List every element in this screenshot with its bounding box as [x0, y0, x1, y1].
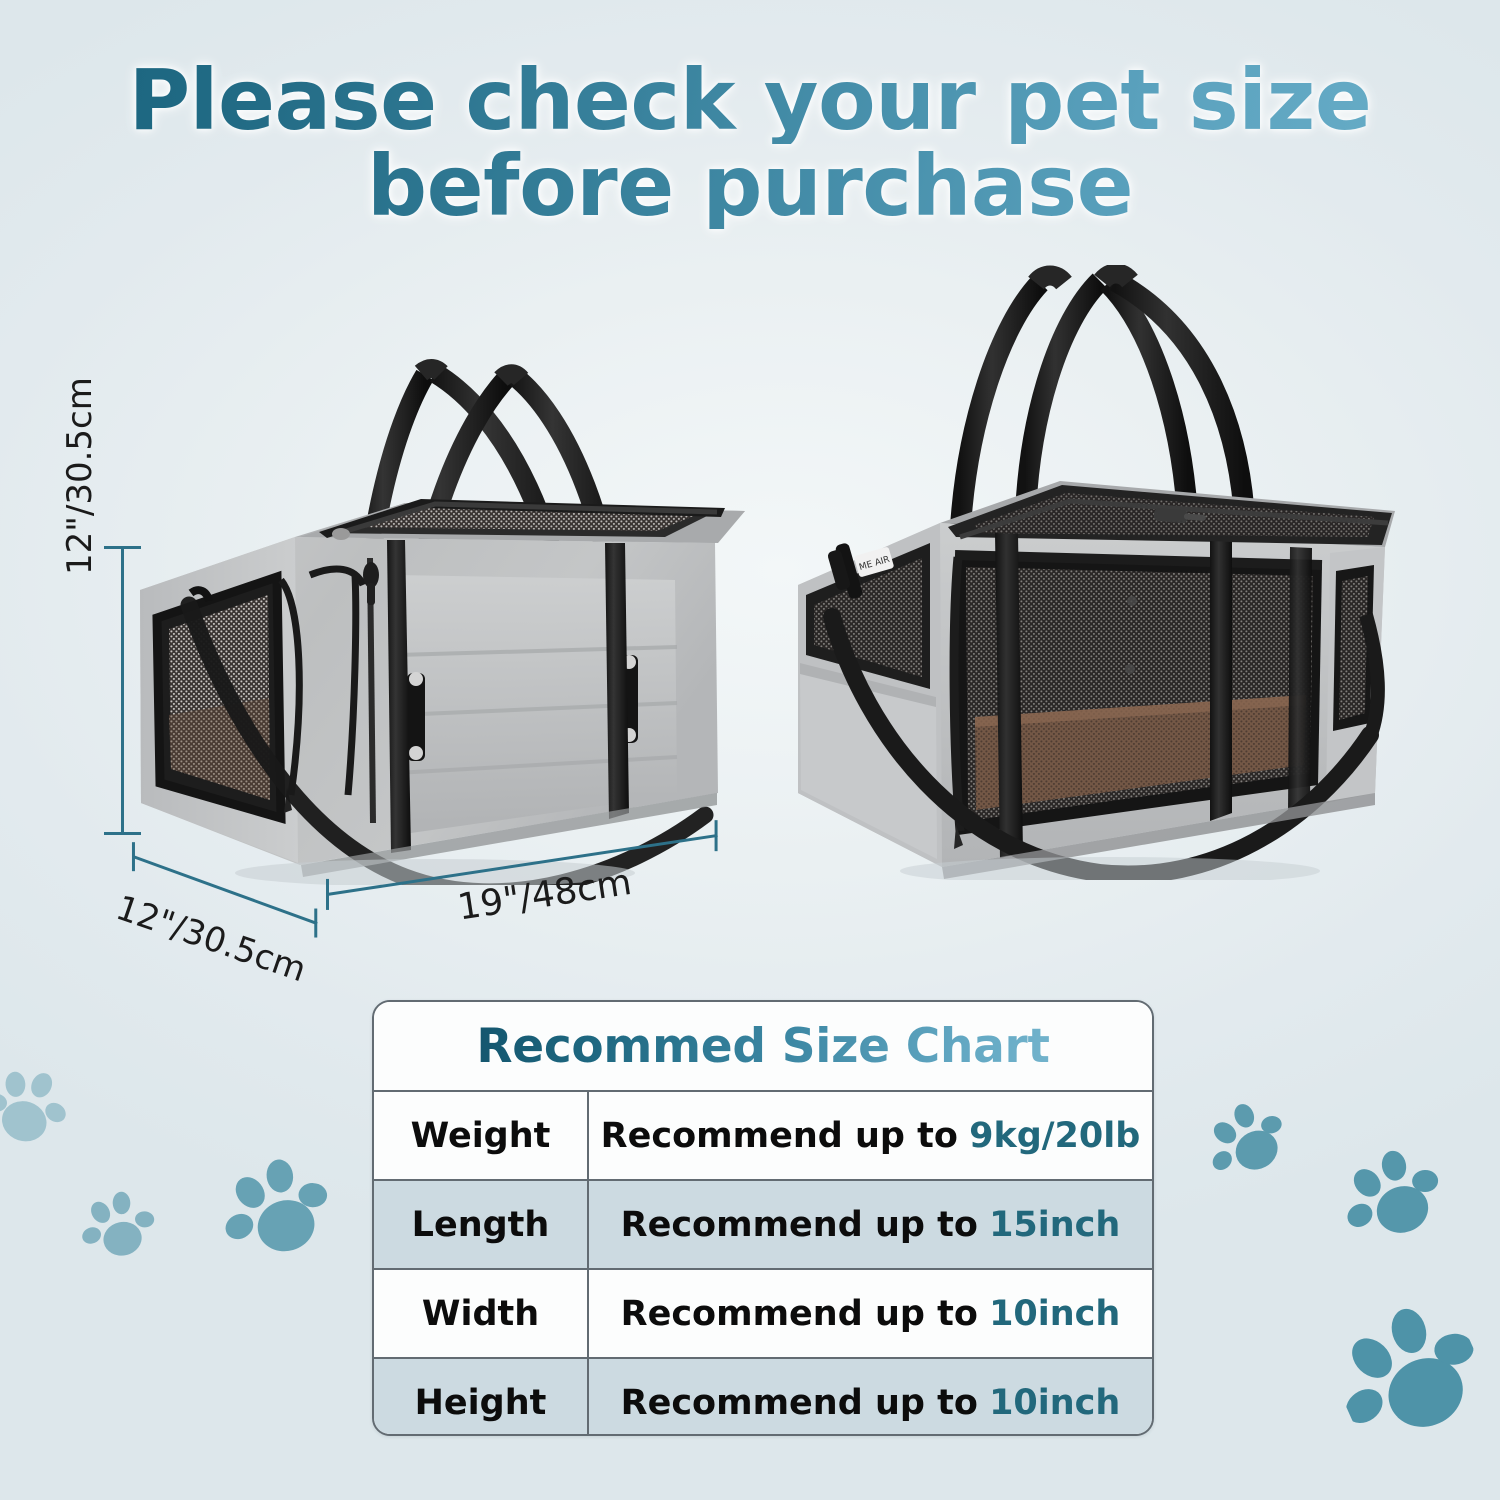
page-title: Please check your pet size before purcha… [0, 58, 1500, 229]
row-value-highlight: 9kg/20lb [969, 1116, 1140, 1156]
paw-print-icon [71, 1178, 166, 1273]
table-row: Weight Recommend up to 9kg/20lb [374, 1092, 1152, 1181]
table-row: Length Recommend up to 15inch [374, 1181, 1152, 1270]
row-value: Recommend up to 15inch [589, 1181, 1152, 1268]
product-photo-right: ME AIR [770, 265, 1410, 880]
row-value-prefix: Recommend up to [621, 1205, 978, 1245]
product-infographic: Please check your pet size before purcha… [0, 0, 1500, 1500]
paw-print-icon [209, 1142, 345, 1278]
row-value-prefix: Recommend up to [621, 1383, 978, 1423]
row-label: Length [374, 1181, 589, 1268]
row-label: Height [374, 1359, 589, 1436]
table-row: Width Recommend up to 10inch [374, 1270, 1152, 1359]
height-dimension-line [121, 548, 124, 834]
product-photo-left [105, 275, 755, 885]
size-chart-table: Recommed Size Chart Weight Recommend up … [372, 1000, 1154, 1436]
size-chart-title: Recommed Size Chart [476, 1019, 1049, 1074]
size-chart-title-row: Recommed Size Chart [374, 1002, 1152, 1092]
row-value: Recommend up to 9kg/20lb [589, 1092, 1152, 1179]
paw-print-icon [1329, 1134, 1457, 1262]
row-value-highlight: 10inch [989, 1294, 1120, 1334]
row-value-highlight: 10inch [989, 1383, 1120, 1423]
height-dimension-label: 12"/30.5cm [60, 377, 100, 575]
row-label: Width [374, 1270, 589, 1357]
row-label: Weight [374, 1092, 589, 1179]
table-row: Height Recommend up to 10inch [374, 1359, 1152, 1436]
paw-print-icon [1318, 1286, 1500, 1471]
page-title-line-1: Please check your pet size [0, 58, 1500, 144]
page-title-line-2: before purchase [0, 144, 1500, 230]
depth-dimension-label: 12"/30.5cm [111, 888, 311, 990]
height-dimension-cap-bottom [104, 832, 141, 835]
row-value-prefix: Recommend up to [621, 1294, 978, 1334]
paw-print-icon [0, 1050, 84, 1163]
row-value-prefix: Recommend up to [601, 1116, 958, 1156]
paw-print-icon [1190, 1085, 1306, 1201]
row-value: Recommend up to 10inch [589, 1359, 1152, 1436]
row-value: Recommend up to 10inch [589, 1270, 1152, 1357]
row-value-highlight: 15inch [989, 1205, 1120, 1245]
